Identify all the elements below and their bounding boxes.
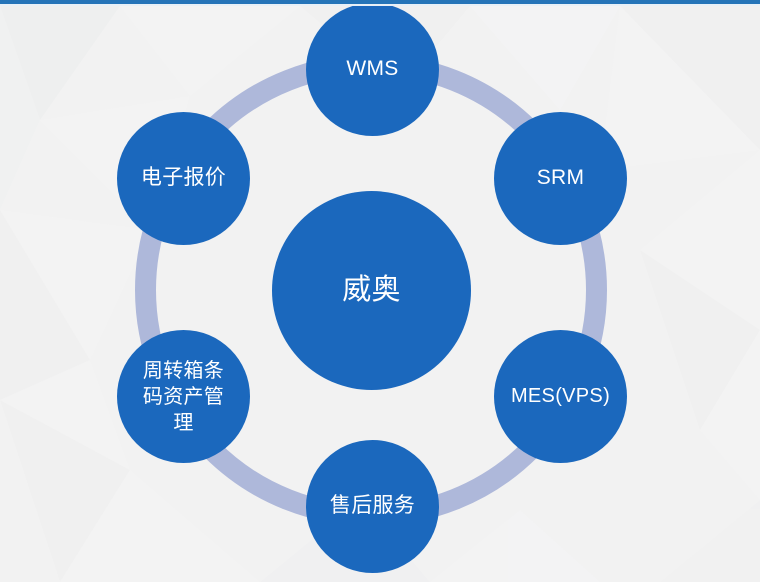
node-srm[interactable]: SRM — [494, 112, 627, 245]
node-electronic-quotation[interactable]: 电子报价 — [117, 112, 250, 245]
node-srm-label: SRM — [494, 165, 627, 192]
top-rule-highlight — [0, 4, 760, 6]
node-electronic-quotation-label: 电子报价 — [117, 165, 250, 192]
node-center-weiao[interactable]: 威奥 — [272, 191, 471, 390]
top-accent-rule — [0, 0, 760, 4]
node-mes-vps-label: MES(VPS) — [494, 384, 627, 410]
node-mes-vps[interactable]: MES(VPS) — [494, 330, 627, 463]
node-turnover-box-barcode-asset-management[interactable]: 周转箱条 码资产管 理 — [117, 330, 250, 463]
node-after-sales-service-label: 售后服务 — [306, 493, 439, 520]
node-wms-label: WMS — [306, 56, 439, 83]
node-turnover-box-barcode-asset-management-label: 周转箱条 码资产管 理 — [117, 358, 250, 436]
node-wms[interactable]: WMS — [306, 3, 439, 136]
diagram-canvas: 威奥 WMS SRM MES(VPS) 售后服务 周转箱条 码资产管 理 电子报… — [0, 0, 760, 582]
node-center-label: 威奥 — [272, 272, 471, 309]
node-after-sales-service[interactable]: 售后服务 — [306, 440, 439, 573]
